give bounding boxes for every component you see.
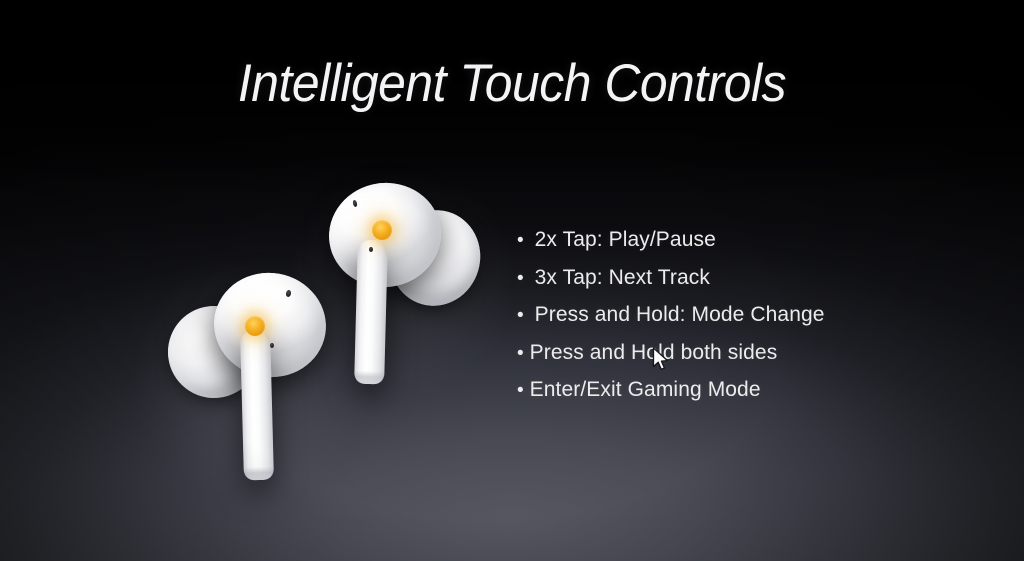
list-item: • Enter/Exit Gaming Mode	[517, 372, 937, 410]
touch-controls-list: • 2x Tap: Play/Pause • 3x Tap: Next Trac…	[517, 222, 937, 410]
earbud-lower-touch-accent	[245, 316, 265, 336]
list-item-label: 3x Tap: Next Track	[524, 260, 710, 297]
bullet-icon: •	[517, 261, 524, 298]
bullet-icon: •	[517, 298, 524, 335]
list-item: • 3x Tap: Next Track	[517, 260, 937, 298]
page-title: Intelligent Touch Controls	[31, 55, 994, 113]
earbud-upper-stem-contact	[354, 371, 384, 385]
list-item-label: Enter/Exit Gaming Mode	[524, 372, 761, 409]
mouse-pointer-icon	[652, 347, 670, 378]
earbud-lower-stem	[240, 330, 274, 481]
bullet-icon: •	[517, 223, 524, 260]
earbud-lower-stem-contact	[244, 467, 274, 481]
list-item-label: Press and Hold both sides	[524, 335, 778, 372]
slide-canvas: Intelligent Touch Controls • 2x Tap: Pla…	[0, 0, 1024, 561]
list-item: • Press and Hold: Mode Change	[517, 297, 937, 335]
list-item-label: 2x Tap: Play/Pause	[524, 222, 716, 259]
list-item-label: Press and Hold: Mode Change	[524, 297, 825, 334]
list-item: • Press and Hold both sides	[517, 335, 937, 373]
earbud-upper-right	[322, 178, 482, 398]
bullet-icon: •	[517, 336, 524, 373]
earbud-upper-stem	[354, 240, 388, 385]
earbud-upper-mic-hole-stem	[369, 247, 373, 252]
list-item: • 2x Tap: Play/Pause	[517, 222, 937, 260]
earbud-upper-touch-accent	[372, 220, 392, 240]
earbud-lower-left	[166, 268, 336, 496]
bullet-icon: •	[517, 373, 524, 410]
earbud-lower-mic-hole-stem	[270, 343, 274, 348]
